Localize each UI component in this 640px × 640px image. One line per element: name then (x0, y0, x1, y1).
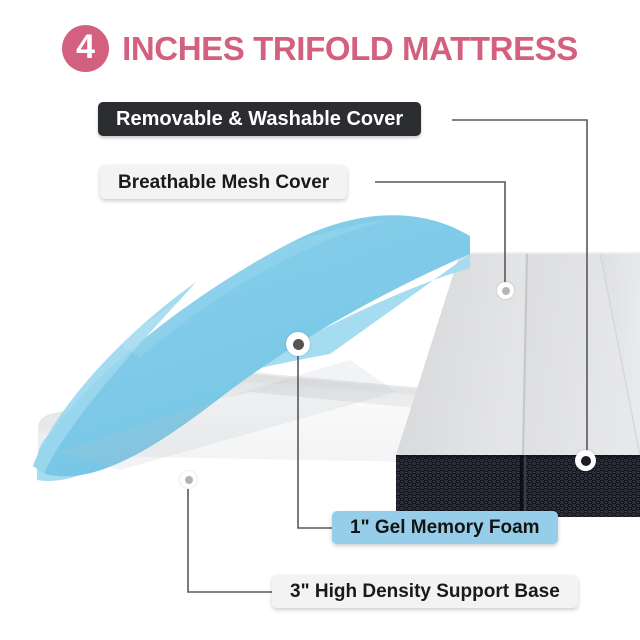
label-breathable-mesh-cover[interactable]: Breathable Mesh Cover (100, 165, 347, 199)
label-text: 3" High Density Support Base (290, 582, 560, 601)
callout-dot-breathable-mesh-cover[interactable] (497, 282, 514, 299)
mattress-infographic: 4 INCHES TRIFOLD MATTRESS (0, 0, 640, 640)
washable-cover-layer (396, 253, 640, 455)
label-high-density-support-base[interactable]: 3" High Density Support Base (272, 575, 578, 608)
label-text: 1" Gel Memory Foam (350, 518, 540, 537)
label-text: Removable & Washable Cover (116, 109, 403, 129)
label-removable-washable-cover[interactable]: Removable & Washable Cover (98, 102, 421, 136)
callout-dot-gel-memory-foam[interactable] (286, 332, 310, 356)
product-illustration (0, 0, 640, 640)
label-text: Breathable Mesh Cover (118, 173, 329, 192)
callout-dot-high-density-support-base[interactable] (180, 471, 197, 488)
mesh-fabric-band (396, 455, 640, 517)
callout-dot-removable-washable-cover[interactable] (575, 450, 596, 471)
label-gel-memory-foam[interactable]: 1" Gel Memory Foam (332, 511, 558, 544)
